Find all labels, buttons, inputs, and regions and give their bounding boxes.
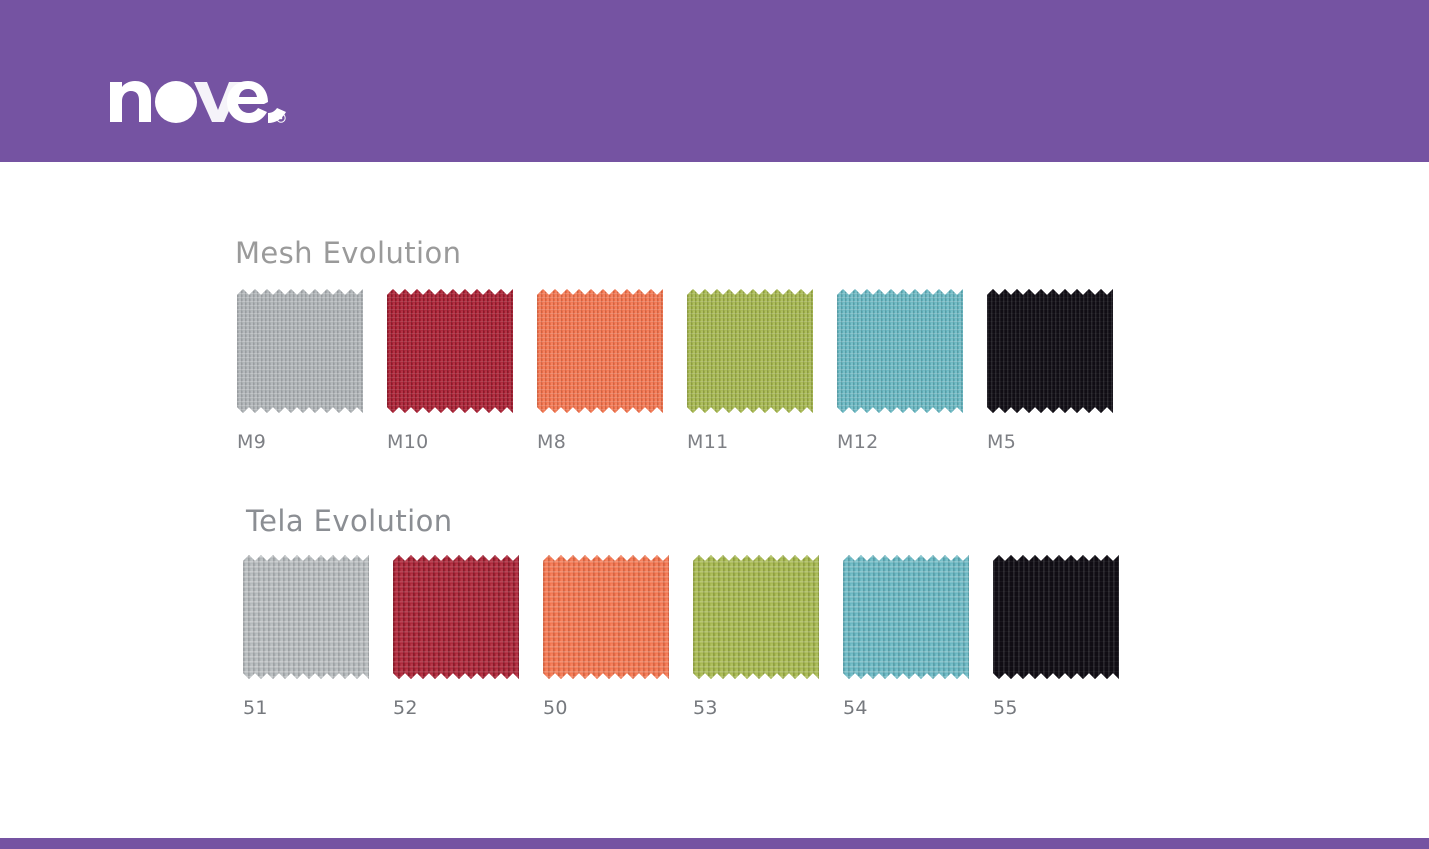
swatch-cell-52[interactable]: 52 — [393, 551, 525, 719]
swatch-label-m11: M11 — [687, 431, 819, 453]
fabric-swatch-m11[interactable] — [687, 285, 815, 417]
swatch-cell-50[interactable]: 50 — [543, 551, 675, 719]
swatch-row-tela: 51 — [243, 551, 453, 751]
swatch-cell-m11[interactable]: M11 — [687, 285, 819, 453]
fabric-swatch-m12[interactable] — [837, 285, 965, 417]
fabric-swatch-54[interactable] — [843, 551, 971, 683]
swatch-cell-m5[interactable]: M5 — [987, 285, 1119, 453]
swatch-cell-54[interactable]: 54 — [843, 551, 975, 719]
swatch-label-53: 53 — [693, 697, 825, 719]
fabric-swatch-m10[interactable] — [387, 285, 515, 417]
fabric-swatch-m8[interactable] — [537, 285, 665, 417]
footer-bar — [0, 838, 1429, 849]
section-title-mesh: Mesh Evolution — [235, 236, 461, 270]
section-tela-evolution: Tela Evolution — [0, 428, 453, 751]
swatch-cell-55[interactable]: 55 — [993, 551, 1125, 719]
swatch-cell-51[interactable]: 51 — [243, 551, 375, 719]
slide-page: Mesh Evolution — [0, 0, 1429, 849]
header-bar — [0, 0, 1429, 162]
novec-logo — [108, 68, 288, 124]
swatch-label-51: 51 — [243, 697, 375, 719]
swatch-label-55: 55 — [993, 697, 1125, 719]
swatch-label-m5: M5 — [987, 431, 1119, 453]
swatch-label-52: 52 — [393, 697, 525, 719]
swatch-label-m8: M8 — [537, 431, 669, 453]
swatch-label-m12: M12 — [837, 431, 969, 453]
swatch-cell-53[interactable]: 53 — [693, 551, 825, 719]
fabric-swatch-m9[interactable] — [237, 285, 365, 417]
swatch-cell-m12[interactable]: M12 — [837, 285, 969, 453]
swatch-cell-m8[interactable]: M8 — [537, 285, 669, 453]
content-area: Mesh Evolution — [0, 162, 1429, 838]
section-title-tela: Tela Evolution — [246, 504, 453, 538]
fabric-swatch-52[interactable] — [393, 551, 521, 683]
fabric-swatch-51[interactable] — [243, 551, 371, 683]
swatch-label-54: 54 — [843, 697, 975, 719]
fabric-swatch-55[interactable] — [993, 551, 1121, 683]
fabric-swatch-50[interactable] — [543, 551, 671, 683]
swatch-label-50: 50 — [543, 697, 675, 719]
fabric-swatch-53[interactable] — [693, 551, 821, 683]
fabric-swatch-m5[interactable] — [987, 285, 1115, 417]
